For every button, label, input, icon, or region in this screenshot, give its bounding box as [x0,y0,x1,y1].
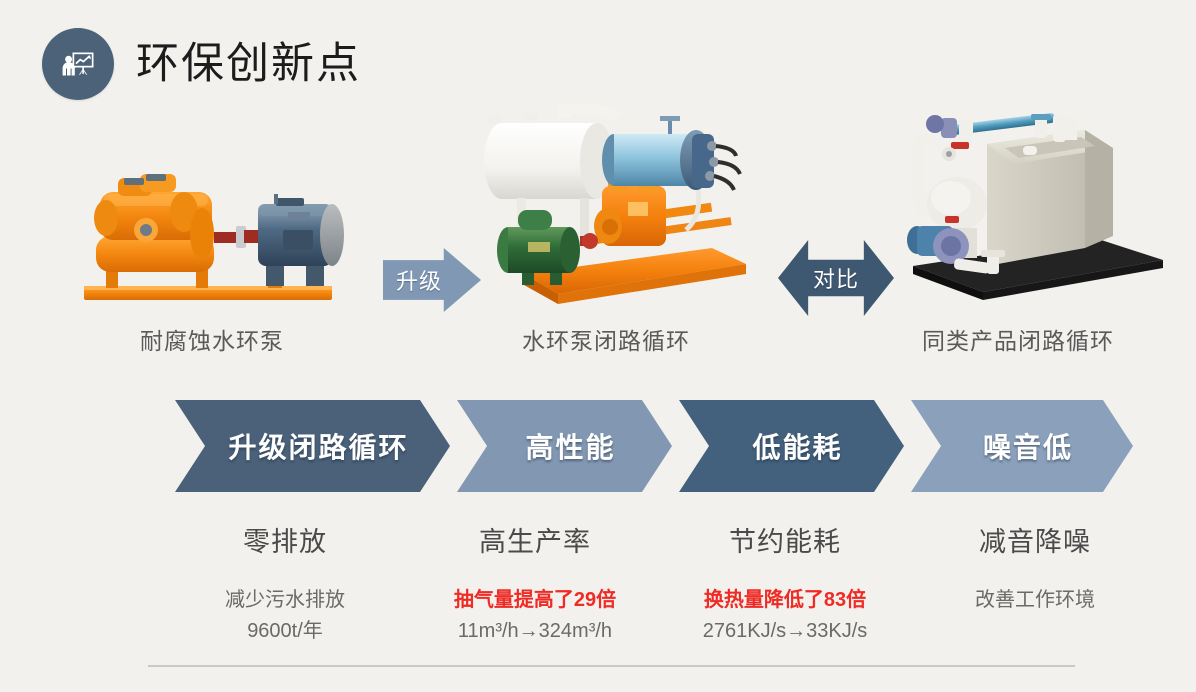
detail-column-4: 减音降噪 改善工作环境 [910,520,1160,647]
detail-column-2: 高生产率 抽气量提高了29倍 11m³/h→324m³/h [410,520,660,647]
detail-column-3: 节约能耗 换热量降低了83倍 2761KJ/s→33KJ/s [660,520,910,647]
detail-4-line-1: 改善工作环境 [910,585,1160,616]
chevron-2[interactable]: 高性能 [457,400,672,492]
detail-2-heading: 高生产率 [410,520,660,559]
chevron-2-label: 高性能 [513,426,615,466]
detail-column-1: 零排放 减少污水排放 9600t/年 [160,520,410,647]
bottom-divider [148,665,1075,667]
detail-3-line-1: 换热量降低了83倍 [660,585,910,616]
arrow-compare: 对比 [778,240,894,316]
arrow-compare-label: 对比 [813,262,859,294]
detail-3-heading: 节约能耗 [660,520,910,559]
detail-1-line-1: 减少污水排放 [160,585,410,616]
page-header: 环保创新点 [42,28,361,100]
detail-3-line-2: 2761KJ/s→33KJ/s [660,616,910,647]
chevron-3-label: 低能耗 [740,426,842,466]
chevron-1[interactable]: 升级闭路循环 [175,400,450,492]
detail-1-heading: 零排放 [160,520,410,559]
detail-1-line-2: 9600t/年 [160,616,410,647]
feature-detail-columns: 零排放 减少污水排放 9600t/年 高生产率 抽气量提高了29倍 11m³/h… [160,520,1160,647]
detail-2-line-1: 抽气量提高了29倍 [410,585,660,616]
detail-4-heading: 减音降噪 [910,520,1160,559]
product-closed-loop-system [462,98,752,313]
detail-2-line-2: 11m³/h→324m³/h [410,616,660,647]
arrow-upgrade-label: 升级 [383,264,442,296]
product-corrosion-resistant-pump [78,168,378,313]
page-title: 环保创新点 [136,43,361,86]
feature-chevron-band: 升级闭路循环 高性能 低能耗 噪音低 [175,400,1140,492]
presentation-chart-icon [42,28,114,100]
caption-product-3: 同类产品闭路循环 [922,322,1114,356]
chevron-1-label: 升级闭路循环 [216,426,408,466]
product-competitor-closed-loop [895,88,1175,313]
slide-canvas: 环保创新点 [0,0,1196,692]
caption-product-2: 水环泵闭路循环 [522,322,690,356]
chevron-3[interactable]: 低能耗 [679,400,904,492]
caption-product-1: 耐腐蚀水环泵 [140,322,284,356]
chevron-4[interactable]: 噪音低 [911,400,1133,492]
chevron-4-label: 噪音低 [971,426,1073,466]
